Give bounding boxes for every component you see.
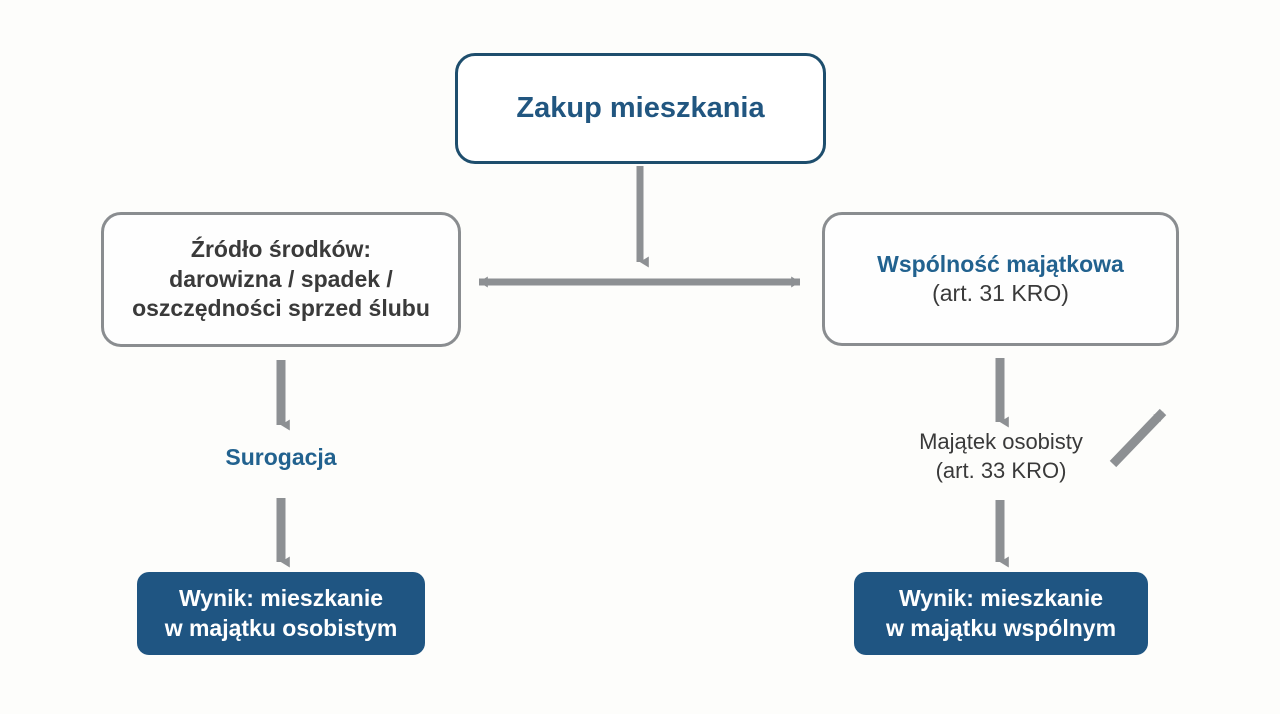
node-joint-property-line-2: (art. 31 KRO)	[932, 279, 1069, 308]
flowchart-canvas: Zakup mieszkania Źródło środków: darowiz…	[0, 0, 1280, 714]
node-result-joint-line-1: Wynik: mieszkanie	[886, 584, 1116, 613]
node-result-personal-line-2: w majątku osobistym	[165, 614, 398, 643]
node-joint-property[interactable]: Wspólność majątkowa (art. 31 KRO)	[822, 212, 1179, 346]
node-source-of-funds-text: Źródło środków: darowizna / spadek / osz…	[132, 235, 430, 323]
node-result-personal[interactable]: Wynik: mieszkanie w majątku osobistym	[137, 572, 425, 655]
node-source-of-funds-line-1: Źródło środków:	[132, 235, 430, 264]
node-result-personal-text: Wynik: mieszkanie w majątku osobistym	[165, 584, 398, 643]
label-surrogation-text: Surogacja	[225, 444, 336, 470]
node-source-of-funds[interactable]: Źródło środków: darowizna / spadek / osz…	[101, 212, 461, 347]
node-result-joint-line-2: w majątku wspólnym	[886, 614, 1116, 643]
node-purchase[interactable]: Zakup mieszkania	[455, 53, 826, 164]
node-purchase-label: Zakup mieszkania	[516, 90, 764, 127]
label-surrogation: Surogacja	[181, 443, 381, 473]
node-result-joint[interactable]: Wynik: mieszkanie w majątku wspólnym	[854, 572, 1148, 655]
node-result-joint-text: Wynik: mieszkanie w majątku wspólnym	[886, 584, 1116, 643]
label-personal-property-line-1: Majątek osobisty	[870, 428, 1132, 457]
node-result-personal-line-1: Wynik: mieszkanie	[165, 584, 398, 613]
label-personal-property-line-2: (art. 33 KRO)	[870, 457, 1132, 486]
node-source-of-funds-line-3: oszczędności sprzed ślubu	[132, 294, 430, 323]
node-joint-property-line-1: Wspólność majątkowa	[877, 250, 1124, 279]
label-personal-property: Majątek osobisty (art. 33 KRO)	[870, 428, 1132, 485]
node-source-of-funds-line-2: darowizna / spadek /	[132, 265, 430, 294]
